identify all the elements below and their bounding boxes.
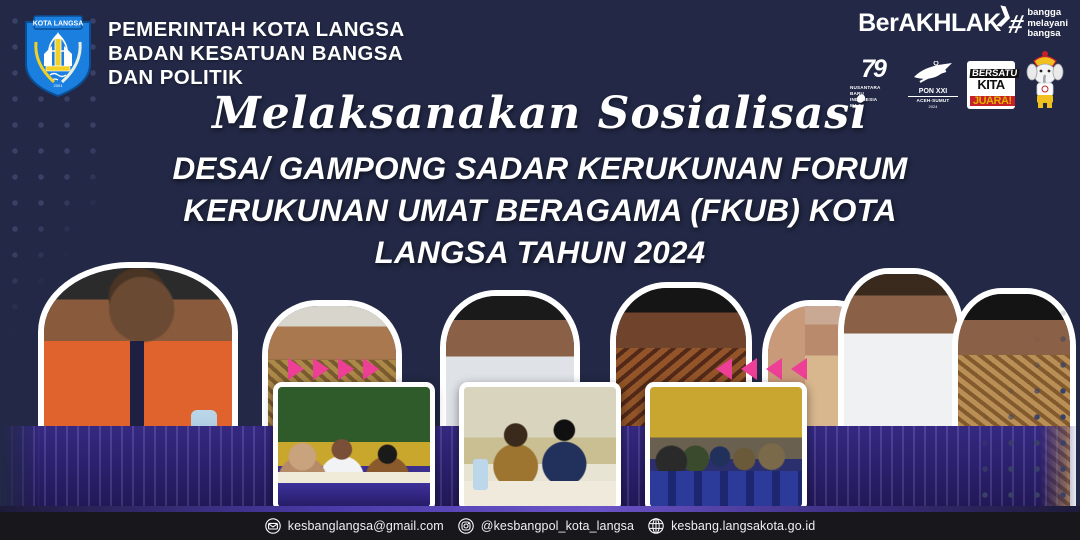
bersatu-line-3: JUARA! — [970, 96, 1015, 106]
org-line-3: DAN POLITIK — [108, 66, 405, 90]
berakhlak-wordmark: BerAKHLAK ❯ — [858, 9, 1001, 38]
hut-79-glyph: 79 — [847, 57, 899, 82]
thumbnail-strip — [0, 362, 1080, 512]
thumbnail-photo-2[interactable] — [459, 382, 621, 512]
logo-cluster: BerAKHLAK ❯ # bangga melayani bangsa 79 … — [828, 8, 1068, 109]
org-line-1: PEMERINTAH KOTA LANGSA — [108, 18, 405, 42]
pon-title: PON XXI — [908, 88, 958, 97]
email-icon — [265, 518, 281, 534]
pon-subtitle: ACEH-SUMUT — [908, 98, 958, 103]
thumbnail-photo-3[interactable] — [645, 382, 807, 512]
pon-xxi-logo: PON XXI ACEH-SUMUT 2024 — [908, 61, 958, 109]
headline-line-1: DESA/ GAMPONG SADAR KERUKUNAN FORUM — [0, 148, 1080, 190]
footer-instagram-text: @kesbangpol_kota_langsa — [481, 519, 634, 533]
instagram-icon — [458, 518, 474, 534]
bersatu-line-1: BERSATU — [970, 69, 1020, 78]
bersatu-line-2: KITA — [970, 79, 1012, 91]
footer-email-text: kesbanglangsa@gmail.com — [288, 519, 444, 533]
headline-line-2: KERUKUNAN UMAT BERAGAMA (FKUB) KOTA — [0, 190, 1080, 232]
headline-line-3: LANGSA TAHUN 2024 — [0, 232, 1080, 274]
globe-icon — [648, 518, 664, 534]
hut-79-caption: NUSANTARA BARU INDONESIA MAJU — [847, 85, 899, 109]
elephant-mascot-icon — [1024, 47, 1066, 109]
organization-name: PEMERINTAH KOTA LANGSA BADAN KESATUAN BA… — [108, 12, 405, 91]
hash-mark-icon: # — [1007, 14, 1026, 35]
title-block: Melaksanakan Sosialisasi DESA/ GAMPONG S… — [0, 92, 1080, 274]
thumbnail-photo-1[interactable] — [273, 382, 435, 512]
hut-79-logo: 79 NUSANTARA BARU INDONESIA MAJU — [847, 57, 899, 109]
crest-year: 2001 — [54, 83, 64, 88]
footer-item-website[interactable]: kesbang.langsakota.go.id — [648, 518, 815, 534]
berakhlak-text: BerAKHLAK — [858, 9, 1001, 37]
berakhlak-logo: BerAKHLAK ❯ # bangga melayani bangsa — [828, 8, 1068, 40]
tagline-text: bangga melayani bangsa — [1027, 8, 1068, 40]
bersatu-kita-juara-logo: BERSATU KITA JUARA! — [967, 61, 1015, 109]
header: KOTA LANGSA 2001 PEMERINTAH KOTA LANGSA … — [22, 12, 405, 98]
footer-item-email[interactable]: kesbanglangsa@gmail.com — [265, 518, 444, 534]
org-line-2: BADAN KESATUAN BANGSA — [108, 42, 405, 66]
poster-canvas: KOTA LANGSA 2001 PEMERINTAH KOTA LANGSA … — [0, 0, 1080, 540]
footer-item-instagram[interactable]: @kesbangpol_kota_langsa — [458, 518, 634, 534]
kota-langsa-crest-icon: KOTA LANGSA 2001 — [22, 12, 94, 98]
pon-year: 2024 — [908, 104, 958, 109]
bangga-melayani-bangsa-logo: # bangga melayani bangsa — [1009, 8, 1068, 40]
svg-text:KOTA LANGSA: KOTA LANGSA — [33, 21, 84, 28]
anniversary-logo-row: 79 NUSANTARA BARU INDONESIA MAJU PON XXI — [828, 47, 1068, 109]
main-headline: DESA/ GAMPONG SADAR KERUKUNAN FORUM KERU… — [0, 148, 1080, 274]
pon-bird-icon — [908, 61, 958, 88]
footer-website-text: kesbang.langsakota.go.id — [671, 519, 815, 533]
footer-bar: kesbanglangsa@gmail.com @kesbangpol_kota… — [0, 512, 1080, 540]
